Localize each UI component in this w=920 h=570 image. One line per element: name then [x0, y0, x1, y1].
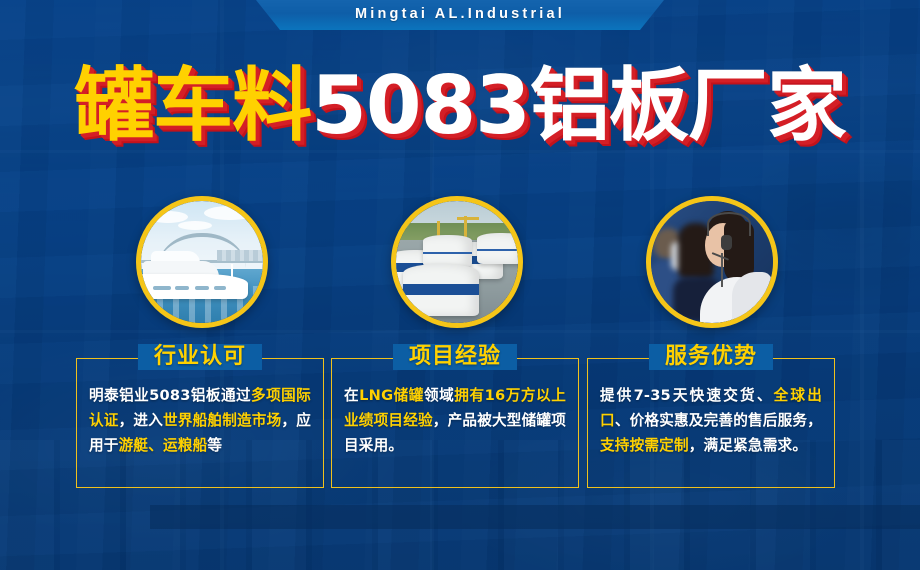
card-body: 提供7-35天快速交货、全球出口、价格实惠及完善的售后服务，支持按需定制，满足紧… [600, 383, 822, 458]
lng-tanks-photo [391, 196, 523, 328]
card-segment: 、价格实惠及完善的售后服务， [615, 412, 822, 429]
promo-banner: Mingtai AL.Industrial 罐车料5083铝板厂家 [0, 0, 920, 570]
card-segment: 领域 [424, 387, 454, 404]
card-segment-highlight: 世界船舶制造市场 [163, 412, 281, 429]
page-title: 罐车料5083铝板厂家 [0, 62, 920, 150]
card-title: 项目经验 [399, 342, 511, 372]
card-title: 服务优势 [655, 342, 767, 372]
card-segment: 明泰铝业5083铝板通过 [89, 387, 251, 404]
feature-card-service: 服务优势 提供7-35天快速交货、全球出口、价格实惠及完善的售后服务，支持按需定… [587, 358, 835, 488]
headline-yellow-part: 罐车料 [74, 59, 311, 152]
card-segment: 提供7-35天快速交货、 [600, 387, 774, 404]
customer-service-photo [646, 196, 778, 328]
card-segment: ，进入 [119, 412, 163, 429]
card-segment: 在 [344, 387, 359, 404]
yacht-photo [136, 196, 268, 328]
headline-white-part: 5083铝板厂家 [311, 59, 846, 152]
card-body: 明泰铝业5083铝板通过多项国际认证，进入世界船舶制造市场，应用于游艇、运粮船等 [89, 383, 311, 458]
card-segment: ，满足紧急需求。 [689, 437, 807, 454]
feature-card-industry: 行业认可 明泰铝业5083铝板通过多项国际认证，进入世界船舶制造市场，应用于游艇… [76, 358, 324, 488]
card-segment-highlight: LNG储罐 [359, 387, 424, 404]
card-segment: 等 [207, 437, 222, 454]
feature-card-experience: 项目经验 在LNG储罐领域拥有16万方以上业绩项目经验，产品被大型储罐项目采用。 [331, 358, 579, 488]
card-body: 在LNG储罐领域拥有16万方以上业绩项目经验，产品被大型储罐项目采用。 [344, 383, 566, 458]
card-segment-highlight: 游艇、运粮船 [119, 437, 208, 454]
card-title: 行业认可 [144, 342, 256, 372]
brand-title: Mingtai AL.Industrial [252, 0, 668, 28]
top-banner: Mingtai AL.Industrial [0, 0, 920, 34]
card-segment-highlight: 支持按需定制 [600, 437, 689, 454]
